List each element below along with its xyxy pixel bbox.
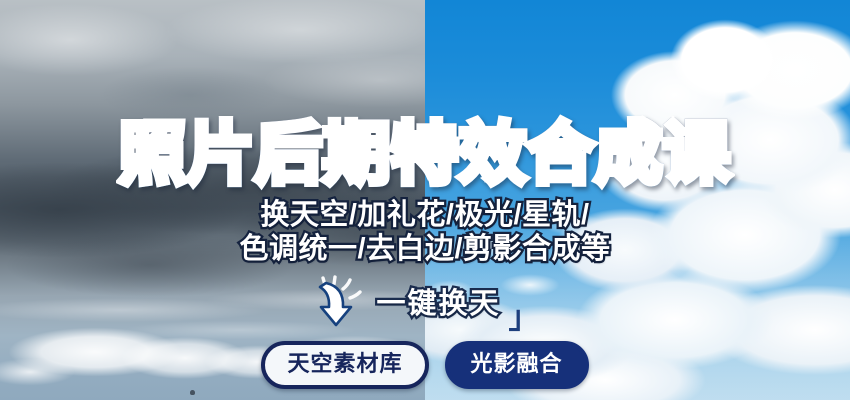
main-title-text: 照片后期特效合成课 bbox=[119, 117, 731, 193]
page-title: 照片后期特效合成课 bbox=[0, 117, 850, 193]
subtitle-line-1: 换天空/加礼花/极光/星轨/ bbox=[0, 198, 850, 232]
status-badge-sky-library[interactable]: 天空素材库 bbox=[261, 341, 428, 389]
one-key-feature-row: 一键换天 」 bbox=[0, 275, 850, 333]
curved-down-arrow-icon bbox=[310, 275, 368, 333]
course-promo-banner: 照片后期特效合成课 换天空/加礼花/极光/星轨/ 色调统一/去白边/剪影合成等 … bbox=[0, 0, 850, 400]
closing-bracket-glyph: 」 bbox=[509, 292, 540, 337]
status-badge-light-blend[interactable]: 光影融合 bbox=[445, 341, 589, 389]
subtitle-block: 换天空/加礼花/极光/星轨/ 色调统一/去白边/剪影合成等 bbox=[0, 198, 850, 266]
subtitle-line-2: 色调统一/去白边/剪影合成等 bbox=[0, 232, 850, 266]
bird-speck bbox=[190, 390, 195, 395]
one-key-label: 一键换天 bbox=[376, 287, 500, 321]
feature-badges: 天空素材库 光影融合 bbox=[0, 341, 850, 389]
